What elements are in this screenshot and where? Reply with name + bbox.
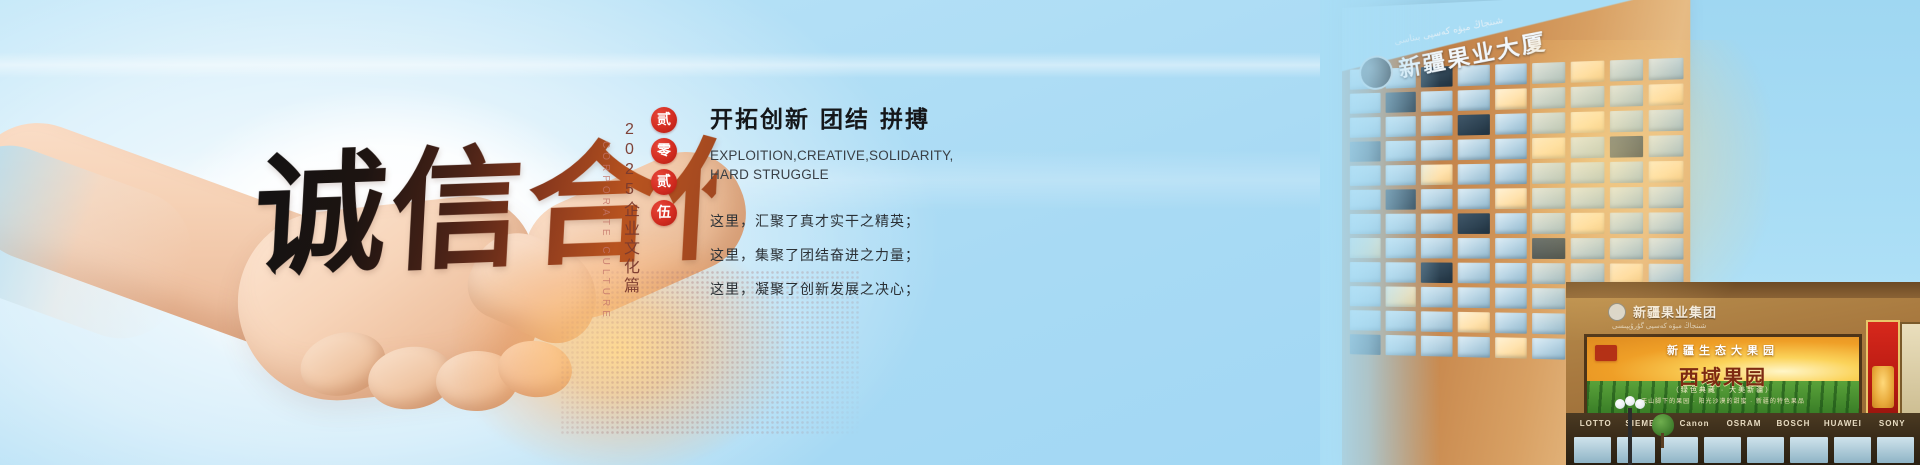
chinese-description-lines: 这里，汇聚了真才实干之精英； 这里，集聚了团结奋进之力量； 这里，凝聚了创新发展… xyxy=(710,214,1030,296)
slogan-segment-3: 拼搏 xyxy=(880,106,930,132)
description-line-1: 这里，汇聚了真才实干之精英； xyxy=(710,214,1030,228)
podium-roof-cap xyxy=(1566,282,1920,298)
storefront-row: LOTTO SIEMENS Canon OSRAM BOSCH HUAWEI S… xyxy=(1566,413,1920,465)
seal-digit-2: 贰 xyxy=(651,107,677,133)
window xyxy=(1532,112,1565,134)
window xyxy=(1350,141,1380,162)
window xyxy=(1571,86,1604,108)
vertical-caption-column: CORPORATE CULTURE 2025企业文化篇 贰 零 贰 伍 xyxy=(600,95,677,325)
window xyxy=(1385,165,1416,186)
window xyxy=(1421,262,1452,283)
street-lamp xyxy=(1628,408,1632,465)
window xyxy=(1649,187,1683,209)
window xyxy=(1532,313,1565,334)
shop-sign-strip: LOTTO SIEMENS Canon OSRAM BOSCH HUAWEI S… xyxy=(1566,419,1920,433)
window xyxy=(1649,58,1683,81)
window xyxy=(1421,311,1452,332)
seal-digit-0: 零 xyxy=(651,138,677,164)
shop-window xyxy=(1704,437,1741,463)
lamp-bulb-icon xyxy=(1615,399,1625,409)
window xyxy=(1610,59,1644,81)
window xyxy=(1610,85,1644,107)
window xyxy=(1350,165,1380,185)
shop-sign: LOTTO xyxy=(1576,419,1615,433)
seal-digit-5: 伍 xyxy=(651,200,677,226)
street-tree xyxy=(1650,414,1676,448)
window xyxy=(1571,137,1604,159)
description-line-3: 这里，凝聚了创新发展之决心； xyxy=(710,282,1030,296)
tree-trunk xyxy=(1661,433,1664,448)
window xyxy=(1458,263,1490,284)
window xyxy=(1421,91,1452,112)
window xyxy=(1571,61,1604,83)
window xyxy=(1610,161,1644,183)
window xyxy=(1532,288,1565,309)
window xyxy=(1495,238,1527,259)
window xyxy=(1532,213,1565,234)
window xyxy=(1458,164,1490,185)
window xyxy=(1571,162,1604,183)
window xyxy=(1495,337,1527,358)
podium-logo-icon xyxy=(1608,303,1626,321)
window xyxy=(1458,114,1490,135)
window xyxy=(1610,213,1644,234)
shop-sign: HUAWEI xyxy=(1823,419,1862,433)
window xyxy=(1421,238,1452,258)
window xyxy=(1610,238,1644,259)
window xyxy=(1532,137,1565,158)
window xyxy=(1350,117,1380,138)
window xyxy=(1350,310,1380,331)
window xyxy=(1495,138,1527,159)
window xyxy=(1649,109,1683,131)
window xyxy=(1458,139,1490,160)
billboard-header: 新疆生态大果园 xyxy=(1587,342,1859,358)
window xyxy=(1385,238,1416,258)
window xyxy=(1610,136,1644,158)
company-culture-banner: 诚信合作 CORPORATE CULTURE 2025企业文化篇 贰 零 贰 伍… xyxy=(0,0,1920,465)
year-seal-stack: 贰 零 贰 伍 xyxy=(651,107,677,226)
lamp-head xyxy=(1615,396,1645,410)
window xyxy=(1385,140,1416,161)
window xyxy=(1385,214,1416,234)
window xyxy=(1495,113,1527,134)
window xyxy=(1532,163,1565,184)
main-slogan: 开拓创新团结拼搏 xyxy=(710,100,1030,134)
shop-sign: BOSCH xyxy=(1774,419,1813,433)
banner-product-image xyxy=(1872,366,1894,408)
shop-window xyxy=(1834,437,1871,463)
window xyxy=(1649,83,1683,105)
window xyxy=(1458,189,1490,210)
lamp-bulb-icon xyxy=(1625,396,1635,406)
podium-sign-chinese: 新疆果业集团 xyxy=(1633,302,1717,321)
window xyxy=(1350,214,1380,234)
shop-window xyxy=(1747,437,1784,463)
vertical-chinese-caption: 2025企业文化篇 xyxy=(617,121,641,296)
window xyxy=(1458,89,1490,110)
shop-sign: OSRAM xyxy=(1724,419,1763,433)
window xyxy=(1610,110,1644,132)
window xyxy=(1495,163,1527,184)
window xyxy=(1421,140,1452,161)
slogan-text-block: 开拓创新团结拼搏 EXPLOITION,CREATIVE,SOLIDARITY,… xyxy=(710,100,1030,296)
window xyxy=(1649,135,1683,157)
lamp-bulb-icon xyxy=(1635,399,1645,409)
window xyxy=(1532,87,1565,109)
window xyxy=(1532,188,1565,209)
podium-sign-uyghur: شىنجاڭ مېۋە كەسپى گۇرۇپپىسى xyxy=(1612,322,1706,330)
window xyxy=(1649,212,1683,233)
window xyxy=(1421,336,1452,357)
window xyxy=(1649,161,1683,183)
slogan-segment-2: 团结 xyxy=(820,106,870,132)
english-slogan-line-1: EXPLOITION,CREATIVE,SOLIDARITY, xyxy=(710,148,954,163)
window xyxy=(1458,336,1490,357)
seal-digit-2b: 贰 xyxy=(651,169,677,195)
window xyxy=(1421,287,1452,308)
shop-window xyxy=(1877,437,1914,463)
window xyxy=(1458,238,1490,259)
window xyxy=(1385,262,1416,282)
window xyxy=(1571,187,1604,208)
window xyxy=(1385,116,1416,137)
english-slogan-line-2: HARD STRUGGLE xyxy=(710,167,829,182)
building-photo: شىنجاڭ مېۋە كەسپى بىناسى 新疆果业大厦 新疆果业集团 ش… xyxy=(1320,0,1920,465)
window xyxy=(1385,311,1416,332)
window xyxy=(1458,213,1490,234)
window xyxy=(1421,189,1452,210)
window xyxy=(1350,334,1380,355)
shop-sign: Canon xyxy=(1675,419,1714,433)
window xyxy=(1532,338,1565,360)
window xyxy=(1495,88,1527,110)
company-logo-icon xyxy=(1357,53,1396,93)
window xyxy=(1495,263,1527,284)
description-line-2: 这里，集聚了团结奋进之力量； xyxy=(710,248,1030,262)
window xyxy=(1458,312,1490,333)
window xyxy=(1421,213,1452,233)
shop-window xyxy=(1574,437,1611,463)
window xyxy=(1421,164,1452,185)
window xyxy=(1495,312,1527,333)
window xyxy=(1495,188,1527,209)
window xyxy=(1532,263,1565,284)
slogan-segment-1: 开拓创新 xyxy=(710,106,810,132)
window xyxy=(1385,286,1416,307)
window xyxy=(1385,92,1416,113)
window xyxy=(1385,189,1416,209)
shop-window-bays xyxy=(1566,437,1920,463)
window xyxy=(1495,288,1527,309)
window xyxy=(1610,187,1644,208)
shop-sign: SONY xyxy=(1873,419,1912,433)
vertical-english-caption: CORPORATE CULTURE xyxy=(600,141,611,321)
retail-podium: 新疆果业集团 شىنجاڭ مېۋە كەسپى گۇرۇپپىسى 新疆生态大… xyxy=(1566,282,1920,465)
window xyxy=(1421,115,1452,136)
podium-sign: 新疆果业集团 xyxy=(1608,302,1717,321)
window xyxy=(1532,238,1565,259)
window xyxy=(1350,190,1380,210)
window xyxy=(1571,238,1604,259)
billboard-subtitle: （绿色典藏 · 大美新疆） xyxy=(1587,385,1859,395)
window xyxy=(1571,111,1604,133)
window xyxy=(1458,287,1490,308)
window xyxy=(1385,335,1416,356)
window xyxy=(1571,213,1604,234)
window xyxy=(1350,238,1380,258)
shop-window xyxy=(1617,437,1654,463)
window xyxy=(1495,213,1527,234)
window xyxy=(1649,238,1683,259)
window xyxy=(1350,286,1380,306)
window xyxy=(1350,262,1380,282)
english-slogan: EXPLOITION,CREATIVE,SOLIDARITY,HARD STRU… xyxy=(710,146,1030,184)
shop-window xyxy=(1790,437,1827,463)
